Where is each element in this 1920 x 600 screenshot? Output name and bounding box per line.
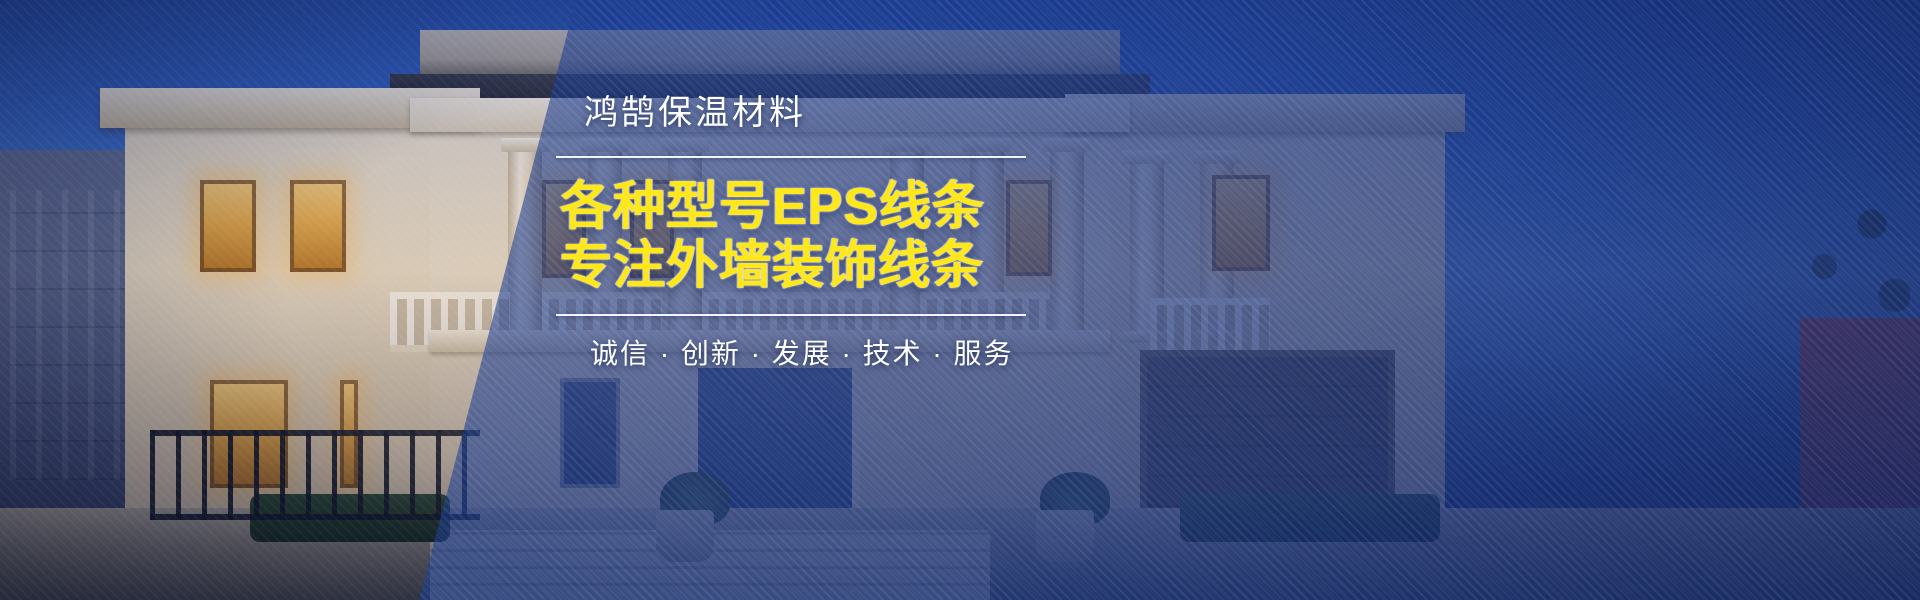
planter (1036, 510, 1094, 562)
lit-window (1212, 175, 1270, 271)
tree-branch (1720, 190, 1910, 360)
lit-window (290, 180, 346, 272)
balustrade (1150, 298, 1270, 358)
headline-line-1: 各种型号EPS线条 (560, 178, 1026, 237)
promo-banner: 鸿鹄保温材料 各种型号EPS线条 专注外墙装饰线条 诚信 · 创新 · 发展 ·… (0, 0, 1920, 600)
hedge (1180, 494, 1440, 542)
divider-top (556, 156, 1026, 158)
brand-name: 鸿鹄保温材料 (556, 96, 1026, 130)
iron-fence (150, 430, 480, 520)
tagline: 诚信 · 创新 · 发展 · 技术 · 服务 (556, 340, 1026, 368)
column (1050, 148, 1084, 338)
lit-window (200, 180, 256, 272)
planter (656, 510, 714, 562)
banner-copy: 鸿鹄保温材料 各种型号EPS线条 专注外墙装饰线条 诚信 · 创新 · 发展 ·… (556, 96, 1026, 368)
headline-block: 各种型号EPS线条 专注外墙装饰线条 (556, 178, 1026, 296)
divider-bottom (556, 314, 1026, 316)
headline-line-2: 专注外墙装饰线条 (560, 237, 1026, 296)
column (508, 148, 542, 338)
window (560, 378, 620, 488)
